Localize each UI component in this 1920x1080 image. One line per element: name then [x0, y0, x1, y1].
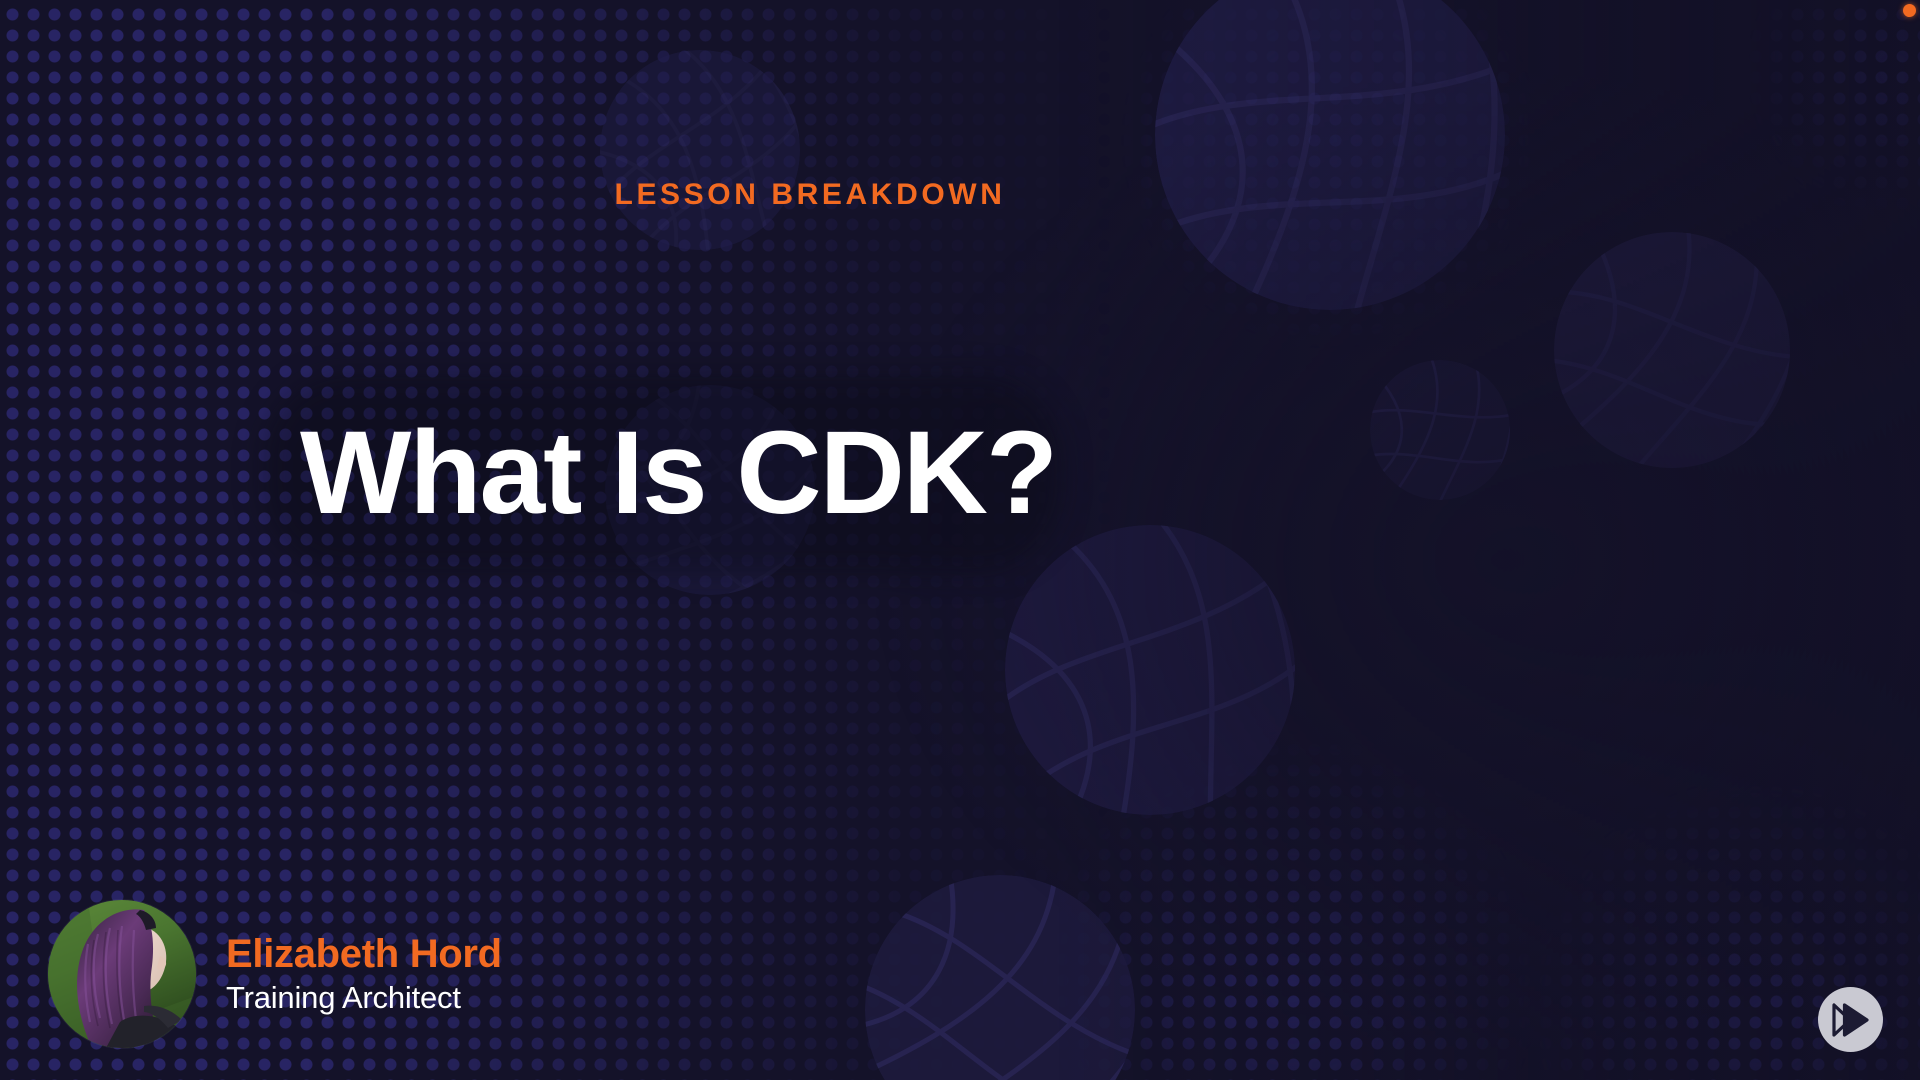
- slide-canvas: LESSON BREAKDOWN What Is CDK?: [0, 0, 1920, 1080]
- double-play-icon[interactable]: [1818, 987, 1883, 1052]
- lesson-kicker: LESSON BREAKDOWN: [0, 178, 1620, 212]
- presenter-role: Training Architect: [226, 979, 502, 1016]
- page-title: What Is CDK?: [300, 373, 1060, 573]
- presenter-name: Elizabeth Hord: [226, 931, 502, 977]
- avatar: [48, 900, 196, 1048]
- title-block: What Is CDK?: [262, 373, 1062, 573]
- recording-status-dot: [1903, 4, 1916, 17]
- presenter-text: Elizabeth Hord Training Architect: [226, 931, 502, 1016]
- presenter-card: Elizabeth Hord Training Architect: [48, 900, 502, 1048]
